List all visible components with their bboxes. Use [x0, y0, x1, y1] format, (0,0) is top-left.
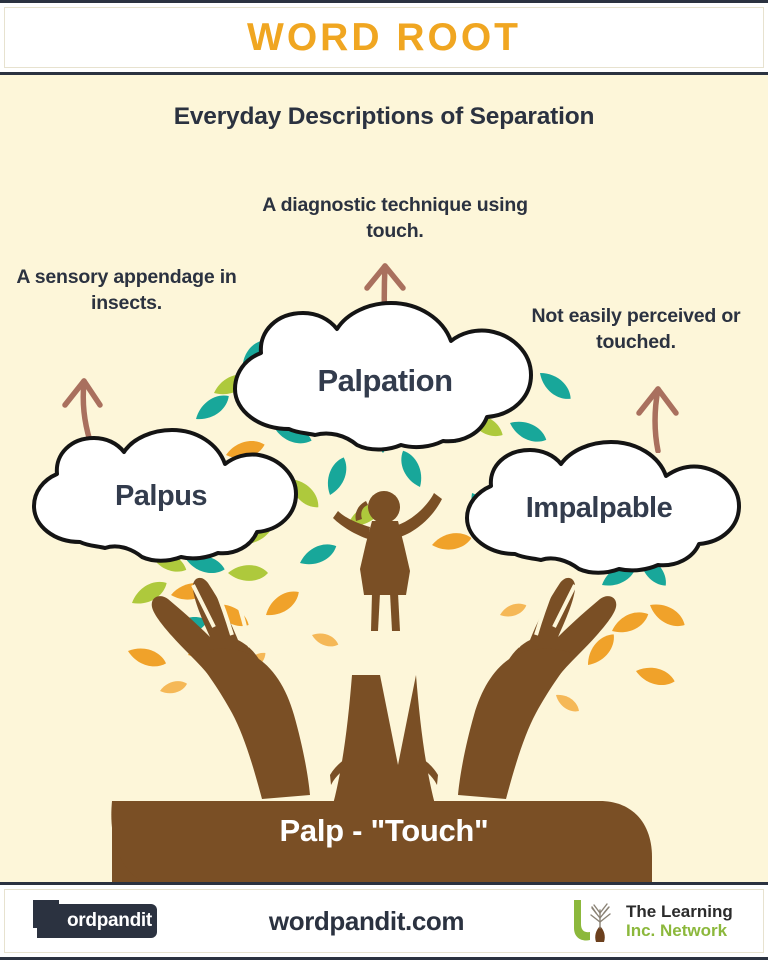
learning-network-icon [566, 896, 622, 946]
footer-website-url[interactable]: wordpandit.com [269, 906, 464, 937]
header-inner-frame: WORD ROOT [4, 7, 764, 68]
learning-network-line2: Inc. Network [626, 921, 733, 940]
page-title: WORD ROOT [247, 18, 521, 57]
learning-network-logo[interactable]: The Learning Inc. Network [566, 896, 741, 946]
root-banner-label: Palp - "Touch" [0, 813, 768, 849]
callout-palpation-text: A diagnostic technique using touch. [243, 192, 547, 245]
footer-band: ordpandit wordpandit.com The Lea [0, 882, 768, 960]
footer-inner-frame: ordpandit wordpandit.com The Lea [4, 889, 764, 953]
child-silhouette [333, 491, 442, 631]
cloud-bubble-palpus: Palpus [22, 428, 300, 563]
wordpandit-logo-text: ordpandit [67, 910, 152, 932]
learning-network-line1: The Learning [626, 902, 733, 921]
wordpandit-logo[interactable]: ordpandit [27, 900, 167, 942]
infographic-poster: WORD ROOT Everyday Descriptions of Separ… [0, 0, 768, 960]
header-band: WORD ROOT [0, 0, 768, 75]
callout-palpus-text: A sensory appendage in insects. [12, 264, 241, 317]
subtitle: Everyday Descriptions of Separation [0, 103, 768, 131]
cloud-bubble-impalpable: Impalpable [455, 440, 743, 575]
